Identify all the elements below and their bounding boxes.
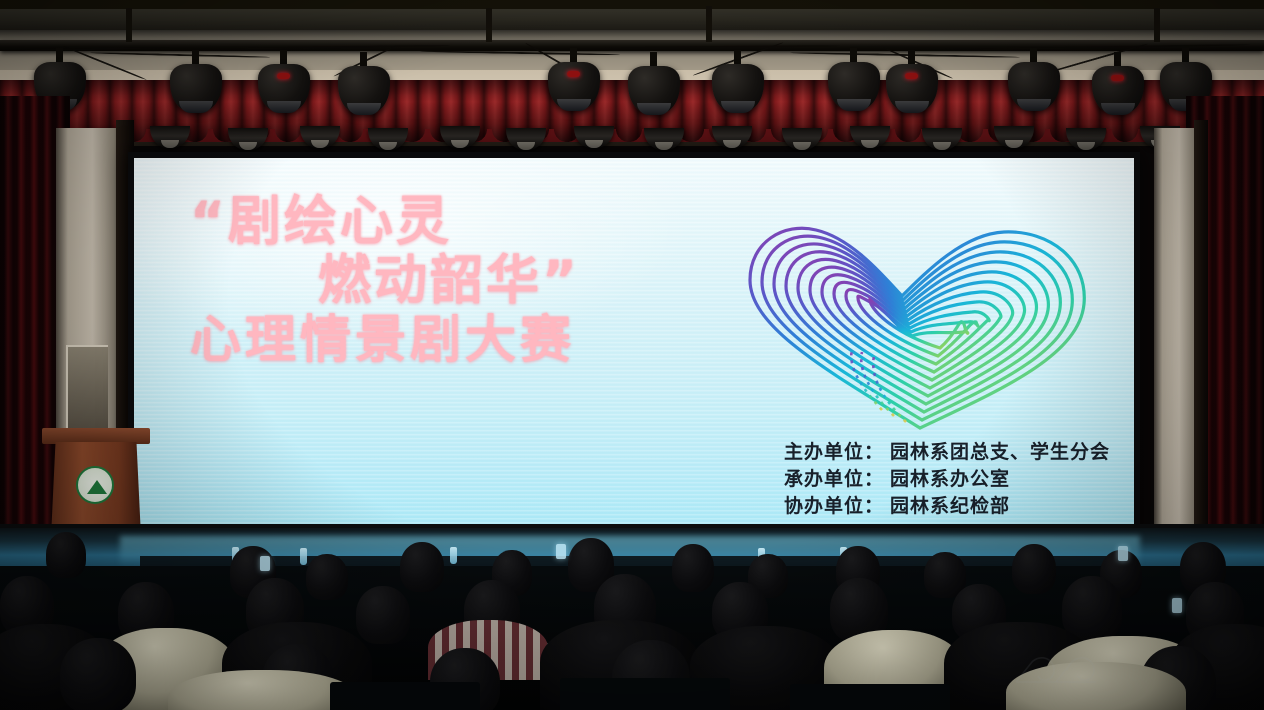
stage-light-fixture xyxy=(886,64,938,120)
slide-credits: 主办单位：园林系团总支、学生分会 承办单位：园林系办公室 协办单位：园林系纪检部 xyxy=(784,439,1110,520)
stage-downlight xyxy=(782,128,822,150)
credit-value: 园林系办公室 xyxy=(890,468,1010,490)
stage-downlight xyxy=(228,128,268,150)
auditorium-scene: “剧绘心灵 燃动韶华” 心理情景剧大赛 xyxy=(0,0,1264,710)
slide-title: “剧绘心灵 燃动韶华” 心理情景剧大赛 xyxy=(190,194,750,367)
audience-phone-screen xyxy=(1118,546,1128,561)
ceiling-beam xyxy=(0,0,1264,9)
audience-head xyxy=(672,544,714,592)
truss-drop-rod xyxy=(126,8,132,42)
credit-label: 协办单位： xyxy=(784,493,890,520)
decorative-wave-watermark xyxy=(1012,652,1122,692)
credit-label: 主办单位： xyxy=(784,439,890,466)
credit-label: 承办单位： xyxy=(784,466,890,493)
audience-head xyxy=(356,586,410,644)
slide-title-line-2: 燃动韶华” xyxy=(318,253,750,308)
slide-subtitle: 心理情景剧大赛 xyxy=(190,314,750,367)
audience-head xyxy=(1012,544,1056,594)
stage-downlight xyxy=(368,128,408,150)
truss-drop-rod xyxy=(486,8,492,42)
podium-top xyxy=(42,428,150,444)
lighting-truss-bar xyxy=(0,40,1264,51)
school-emblem-icon xyxy=(76,466,114,504)
stage-downlight xyxy=(1066,128,1106,150)
seat-back xyxy=(560,678,730,710)
audience-head xyxy=(46,532,86,578)
projection-screen: “剧绘心灵 燃动韶华” 心理情景剧大赛 xyxy=(134,158,1134,536)
audience-head xyxy=(60,638,136,710)
credit-row: 主办单位：园林系团总支、学生分会 xyxy=(784,439,1110,466)
seat-back xyxy=(790,684,950,710)
credit-row: 协办单位：园林系纪检部 xyxy=(784,493,1110,520)
stage-post-right xyxy=(1194,120,1208,565)
audience-phone-screen xyxy=(556,544,566,559)
projection-screen-frame: “剧绘心灵 燃动韶华” 心理情景剧大赛 xyxy=(128,152,1140,542)
truss-drop-rod xyxy=(1154,8,1160,42)
seat-back xyxy=(330,682,480,710)
stage-downlight xyxy=(506,128,546,150)
stage-light-fixture xyxy=(1008,62,1060,118)
rainbow-heart-logo xyxy=(732,200,1112,440)
stage-light-fixture xyxy=(828,62,880,118)
stage-light-fixture xyxy=(1092,66,1144,122)
truss-drop-rod xyxy=(706,6,712,42)
audience-head xyxy=(400,542,444,592)
stage-downlight xyxy=(644,128,684,150)
stage-light-fixture xyxy=(712,64,764,120)
heart-icon xyxy=(732,200,1112,440)
credit-row: 承办单位：园林系办公室 xyxy=(784,466,1110,493)
stage-light-fixture xyxy=(628,66,680,122)
credit-value: 园林系纪检部 xyxy=(890,495,1010,517)
stage-downlight xyxy=(922,128,962,150)
audience-head xyxy=(306,554,348,600)
wave-watermark-icon xyxy=(1012,652,1122,692)
credit-value: 园林系团总支、学生分会 xyxy=(890,441,1110,463)
stage-light-fixture xyxy=(170,64,222,120)
audience-phone-screen xyxy=(1172,598,1182,613)
stage-light-fixture xyxy=(548,62,600,118)
stage-light-fixture xyxy=(338,66,390,122)
slide-title-line-1: “剧绘心灵 xyxy=(190,194,750,249)
stage-light-fixture xyxy=(258,64,310,120)
soffit-shadow xyxy=(0,30,1264,40)
audience-phone-screen xyxy=(260,556,270,571)
